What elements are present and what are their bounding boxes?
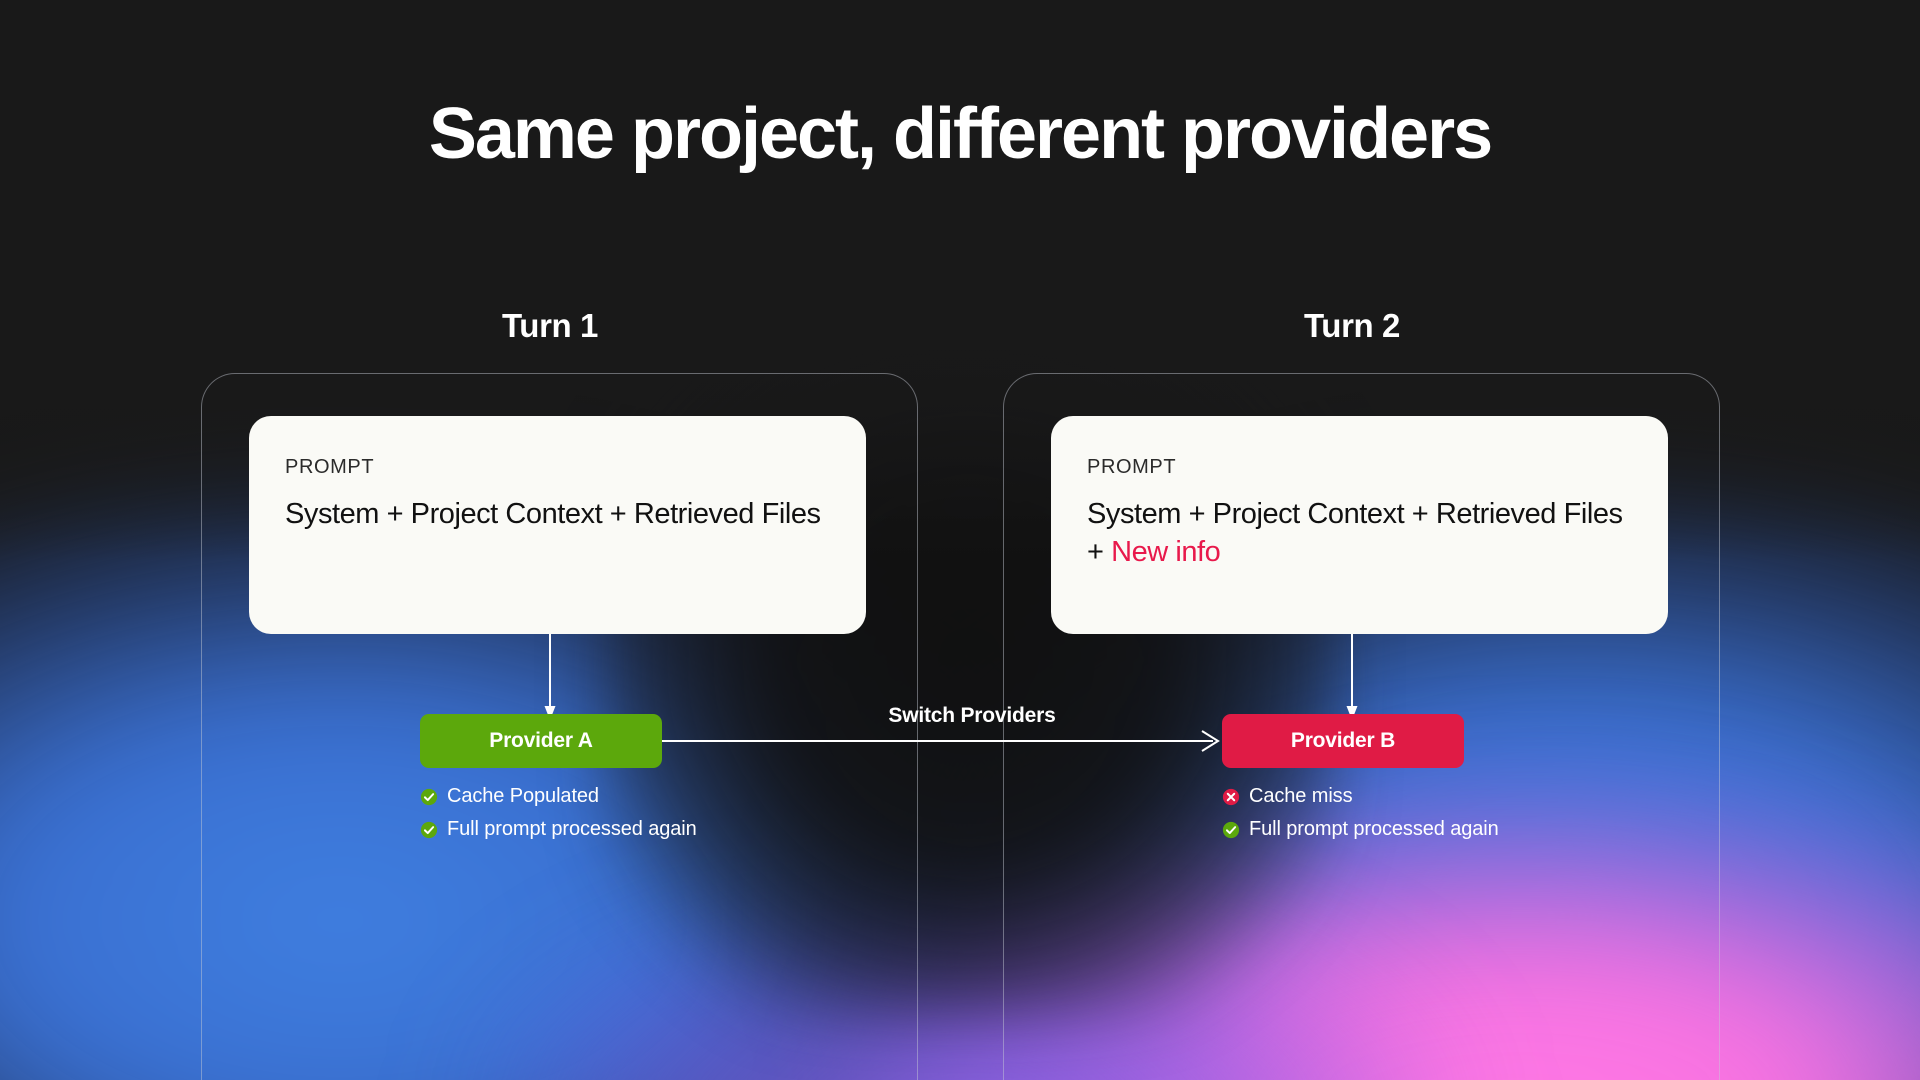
prompt-kicker: PROMPT [1087, 456, 1632, 479]
connector-arrow-down-turn-2 [1345, 634, 1359, 720]
check-circle-icon [420, 821, 438, 839]
check-circle-icon [1222, 821, 1240, 839]
prompt-body: System + Project Context + Retrieved Fil… [1087, 495, 1632, 572]
prompt-card-turn-2: PROMPT System + Project Context + Retrie… [1051, 416, 1668, 634]
prompt-text: System + Project Context + Retrieved Fil… [285, 498, 821, 530]
check-circle-icon [420, 788, 438, 806]
status-list-turn-1: Cache Populated Full prompt processed ag… [420, 785, 697, 851]
turn-2-heading: Turn 2 [1202, 307, 1502, 345]
switch-providers-arrow-icon [662, 726, 1224, 756]
prompt-kicker: PROMPT [285, 456, 830, 479]
status-item: Full prompt processed again [420, 818, 697, 841]
status-label: Full prompt processed again [1249, 818, 1499, 841]
prompt-body: System + Project Context + Retrieved Fil… [285, 495, 830, 533]
status-list-turn-2: Cache miss Full prompt processed again [1222, 785, 1499, 851]
status-label: Cache miss [1249, 785, 1352, 808]
status-item: Full prompt processed again [1222, 818, 1499, 841]
status-label: Cache Populated [447, 785, 599, 808]
switch-providers-label: Switch Providers [772, 704, 1172, 728]
provider-b-button[interactable]: Provider B [1222, 714, 1464, 768]
provider-a-label: Provider A [489, 729, 592, 753]
prompt-accent-text: New info [1111, 536, 1220, 568]
turn-1-heading: Turn 1 [400, 307, 700, 345]
connector-arrow-down-turn-1 [543, 634, 557, 720]
status-item: Cache miss [1222, 785, 1499, 808]
provider-b-label: Provider B [1291, 729, 1395, 753]
status-item: Cache Populated [420, 785, 697, 808]
page-title: Same project, different providers [0, 98, 1920, 170]
provider-a-button[interactable]: Provider A [420, 714, 662, 768]
status-label: Full prompt processed again [447, 818, 697, 841]
x-circle-icon [1222, 788, 1240, 806]
prompt-card-turn-1: PROMPT System + Project Context + Retrie… [249, 416, 866, 634]
